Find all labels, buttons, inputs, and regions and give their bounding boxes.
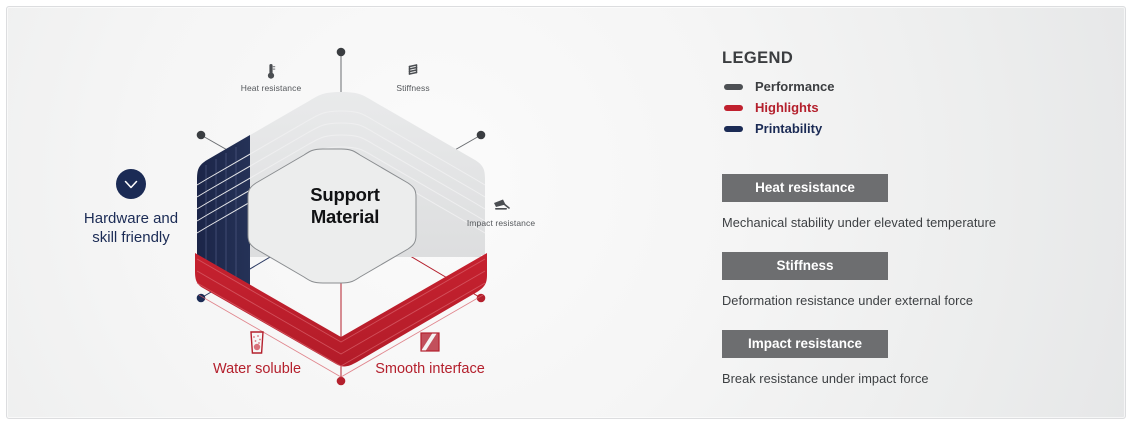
legend-item-printability: Printability: [724, 121, 822, 136]
radar-chart: Heat resistance Stiffness: [7, 7, 697, 418]
legend-swatch-highlights: [724, 105, 743, 111]
legend-title: LEGEND: [722, 49, 793, 68]
dissolving-glass-icon: [187, 327, 327, 357]
endpoint-heat-resistance: [197, 131, 206, 140]
infographic-panel: Heat resistance Stiffness: [6, 6, 1126, 419]
legend-item-performance: Performance: [724, 79, 834, 94]
hammer-impact-icon: [445, 196, 557, 216]
center-label-line1: Support: [310, 184, 380, 205]
endpoint-water-soluble: [337, 377, 346, 386]
center-label-line2: Material: [311, 206, 379, 227]
property-chip: Impact resistance: [722, 330, 888, 358]
axis-tag-stiffness: Stiffness: [359, 61, 467, 94]
printability-label-line1: Hardware and: [84, 210, 178, 227]
axis-label: Impact resistance: [445, 219, 557, 229]
property-description: Break resistance under impact force: [722, 371, 1122, 386]
legend-item-highlights: Highlights: [724, 100, 819, 115]
thermometer-icon: [217, 61, 325, 81]
endpoint-impact-resistance: [477, 131, 486, 140]
radar-center-label: Support Material: [275, 184, 415, 228]
printability-tag-hardware-friendly: Hardware and skill friendly: [51, 169, 211, 248]
legend-label: Performance: [755, 79, 834, 94]
legend-and-properties: LEGEND Performance Highlights Printabili…: [713, 7, 1125, 418]
printability-label: Hardware and skill friendly: [51, 210, 211, 248]
highlight-label: Smooth interface: [355, 361, 505, 377]
property-chip: Heat resistance: [722, 174, 888, 202]
endpoint-stiffness: [337, 48, 346, 57]
property-chip: Stiffness: [722, 252, 888, 280]
property-stiffness: Stiffness Deformation resistance under e…: [722, 252, 1122, 308]
printability-label-line2: skill friendly: [92, 229, 170, 246]
property-description: Deformation resistance under external fo…: [722, 293, 1122, 308]
property-impact-resistance: Impact resistance Break resistance under…: [722, 330, 1122, 386]
check-chevron-icon: [116, 169, 146, 199]
smooth-surface-icon: [355, 327, 505, 357]
highlight-tag-water-soluble: Water soluble: [187, 327, 327, 377]
legend-swatch-printability: [724, 126, 743, 132]
axis-tag-impact-resistance: Impact resistance: [445, 196, 557, 229]
spring-coil-icon: [359, 61, 467, 81]
axis-label: Stiffness: [359, 84, 467, 94]
property-description: Mechanical stability under elevated temp…: [722, 215, 1122, 230]
legend-swatch-performance: [724, 84, 743, 90]
axis-tag-heat-resistance: Heat resistance: [217, 61, 325, 94]
legend-label: Highlights: [755, 100, 819, 115]
property-heat-resistance: Heat resistance Mechanical stability und…: [722, 174, 1122, 230]
highlight-label: Water soluble: [187, 361, 327, 377]
legend-label: Printability: [755, 121, 822, 136]
axis-label: Heat resistance: [217, 84, 325, 94]
highlight-tag-smooth-interface: Smooth interface: [355, 327, 505, 377]
